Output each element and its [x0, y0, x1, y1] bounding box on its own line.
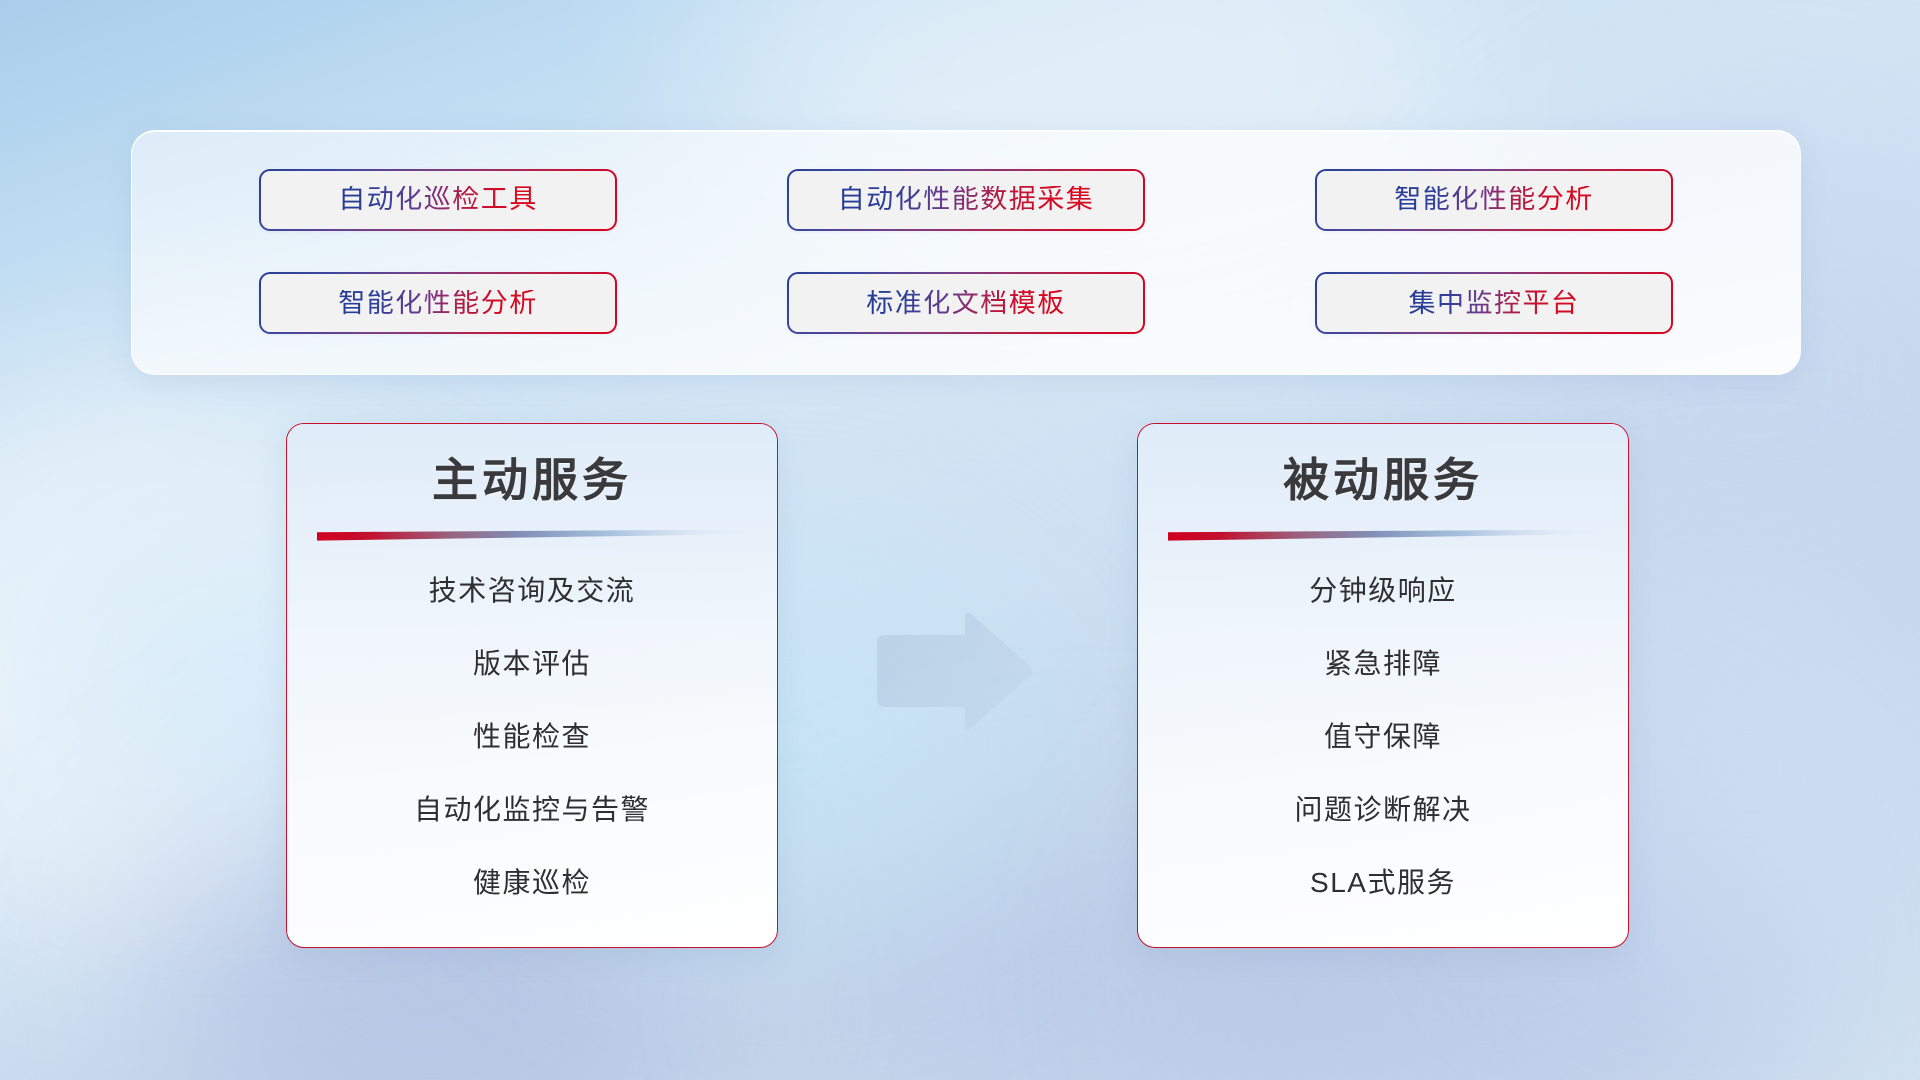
capability-chip[interactable]: 集中监控平台	[1315, 272, 1673, 334]
capability-chip[interactable]: 标准化文档模板	[787, 272, 1145, 334]
reactive-service-list: 分钟级响应 紧急排障 值守保障 问题诊断解决 SLA式服务	[1138, 551, 1628, 897]
divider-bar-icon	[1168, 529, 1598, 543]
proactive-service-list: 技术咨询及交流 版本评估 性能检查 自动化监控与告警 健康巡检	[287, 551, 777, 897]
list-item: 分钟级响应	[1309, 577, 1457, 605]
capability-chip-label: 自动化性能数据采集	[838, 186, 1095, 213]
proactive-service-card: 主动服务	[286, 423, 778, 948]
list-item: 版本评估	[473, 650, 591, 678]
capability-chip[interactable]: 智能化性能分析	[1315, 169, 1673, 231]
capability-chip-label: 自动化巡检工具	[338, 186, 538, 213]
reactive-card-title: 被动服务	[1283, 454, 1483, 507]
capability-chip[interactable]: 自动化性能数据采集	[787, 169, 1145, 231]
proactive-card-title: 主动服务	[432, 454, 632, 507]
reactive-card-inner: 被动服务	[1138, 424, 1628, 947]
proactive-card-divider	[317, 529, 747, 543]
capability-chip-grid: 自动化巡检工具 自动化性能数据采集 智能化性能分析 智能化性能分析 标准化文档模…	[132, 131, 1800, 374]
list-item: 自动化监控与告警	[414, 796, 650, 824]
divider-bar-icon	[317, 529, 747, 543]
list-item: 性能检查	[473, 723, 591, 751]
capability-chip[interactable]: 智能化性能分析	[259, 272, 617, 334]
list-item: 问题诊断解决	[1294, 796, 1471, 824]
flow-arrow	[869, 613, 1034, 733]
proactive-card-inner: 主动服务	[287, 424, 777, 947]
capability-chip-label: 智能化性能分析	[338, 290, 538, 317]
capability-chip[interactable]: 自动化巡检工具	[259, 169, 617, 231]
list-item: SLA式服务	[1310, 869, 1456, 897]
list-item: 技术咨询及交流	[429, 577, 636, 605]
page-background: 自动化巡检工具 自动化性能数据采集 智能化性能分析 智能化性能分析 标准化文档模…	[0, 0, 1920, 1080]
list-item: 健康巡检	[473, 869, 591, 897]
capability-chip-label: 智能化性能分析	[1394, 186, 1594, 213]
reactive-card-divider	[1168, 529, 1598, 543]
list-item: 紧急排障	[1324, 650, 1442, 678]
reactive-service-card: 被动服务	[1137, 423, 1629, 948]
arrow-right-icon	[869, 613, 1034, 733]
capability-chip-label: 集中监控平台	[1409, 290, 1580, 317]
capability-panel: 自动化巡检工具 自动化性能数据采集 智能化性能分析 智能化性能分析 标准化文档模…	[131, 130, 1801, 375]
capability-chip-label: 标准化文档模板	[866, 290, 1066, 317]
list-item: 值守保障	[1324, 723, 1442, 751]
